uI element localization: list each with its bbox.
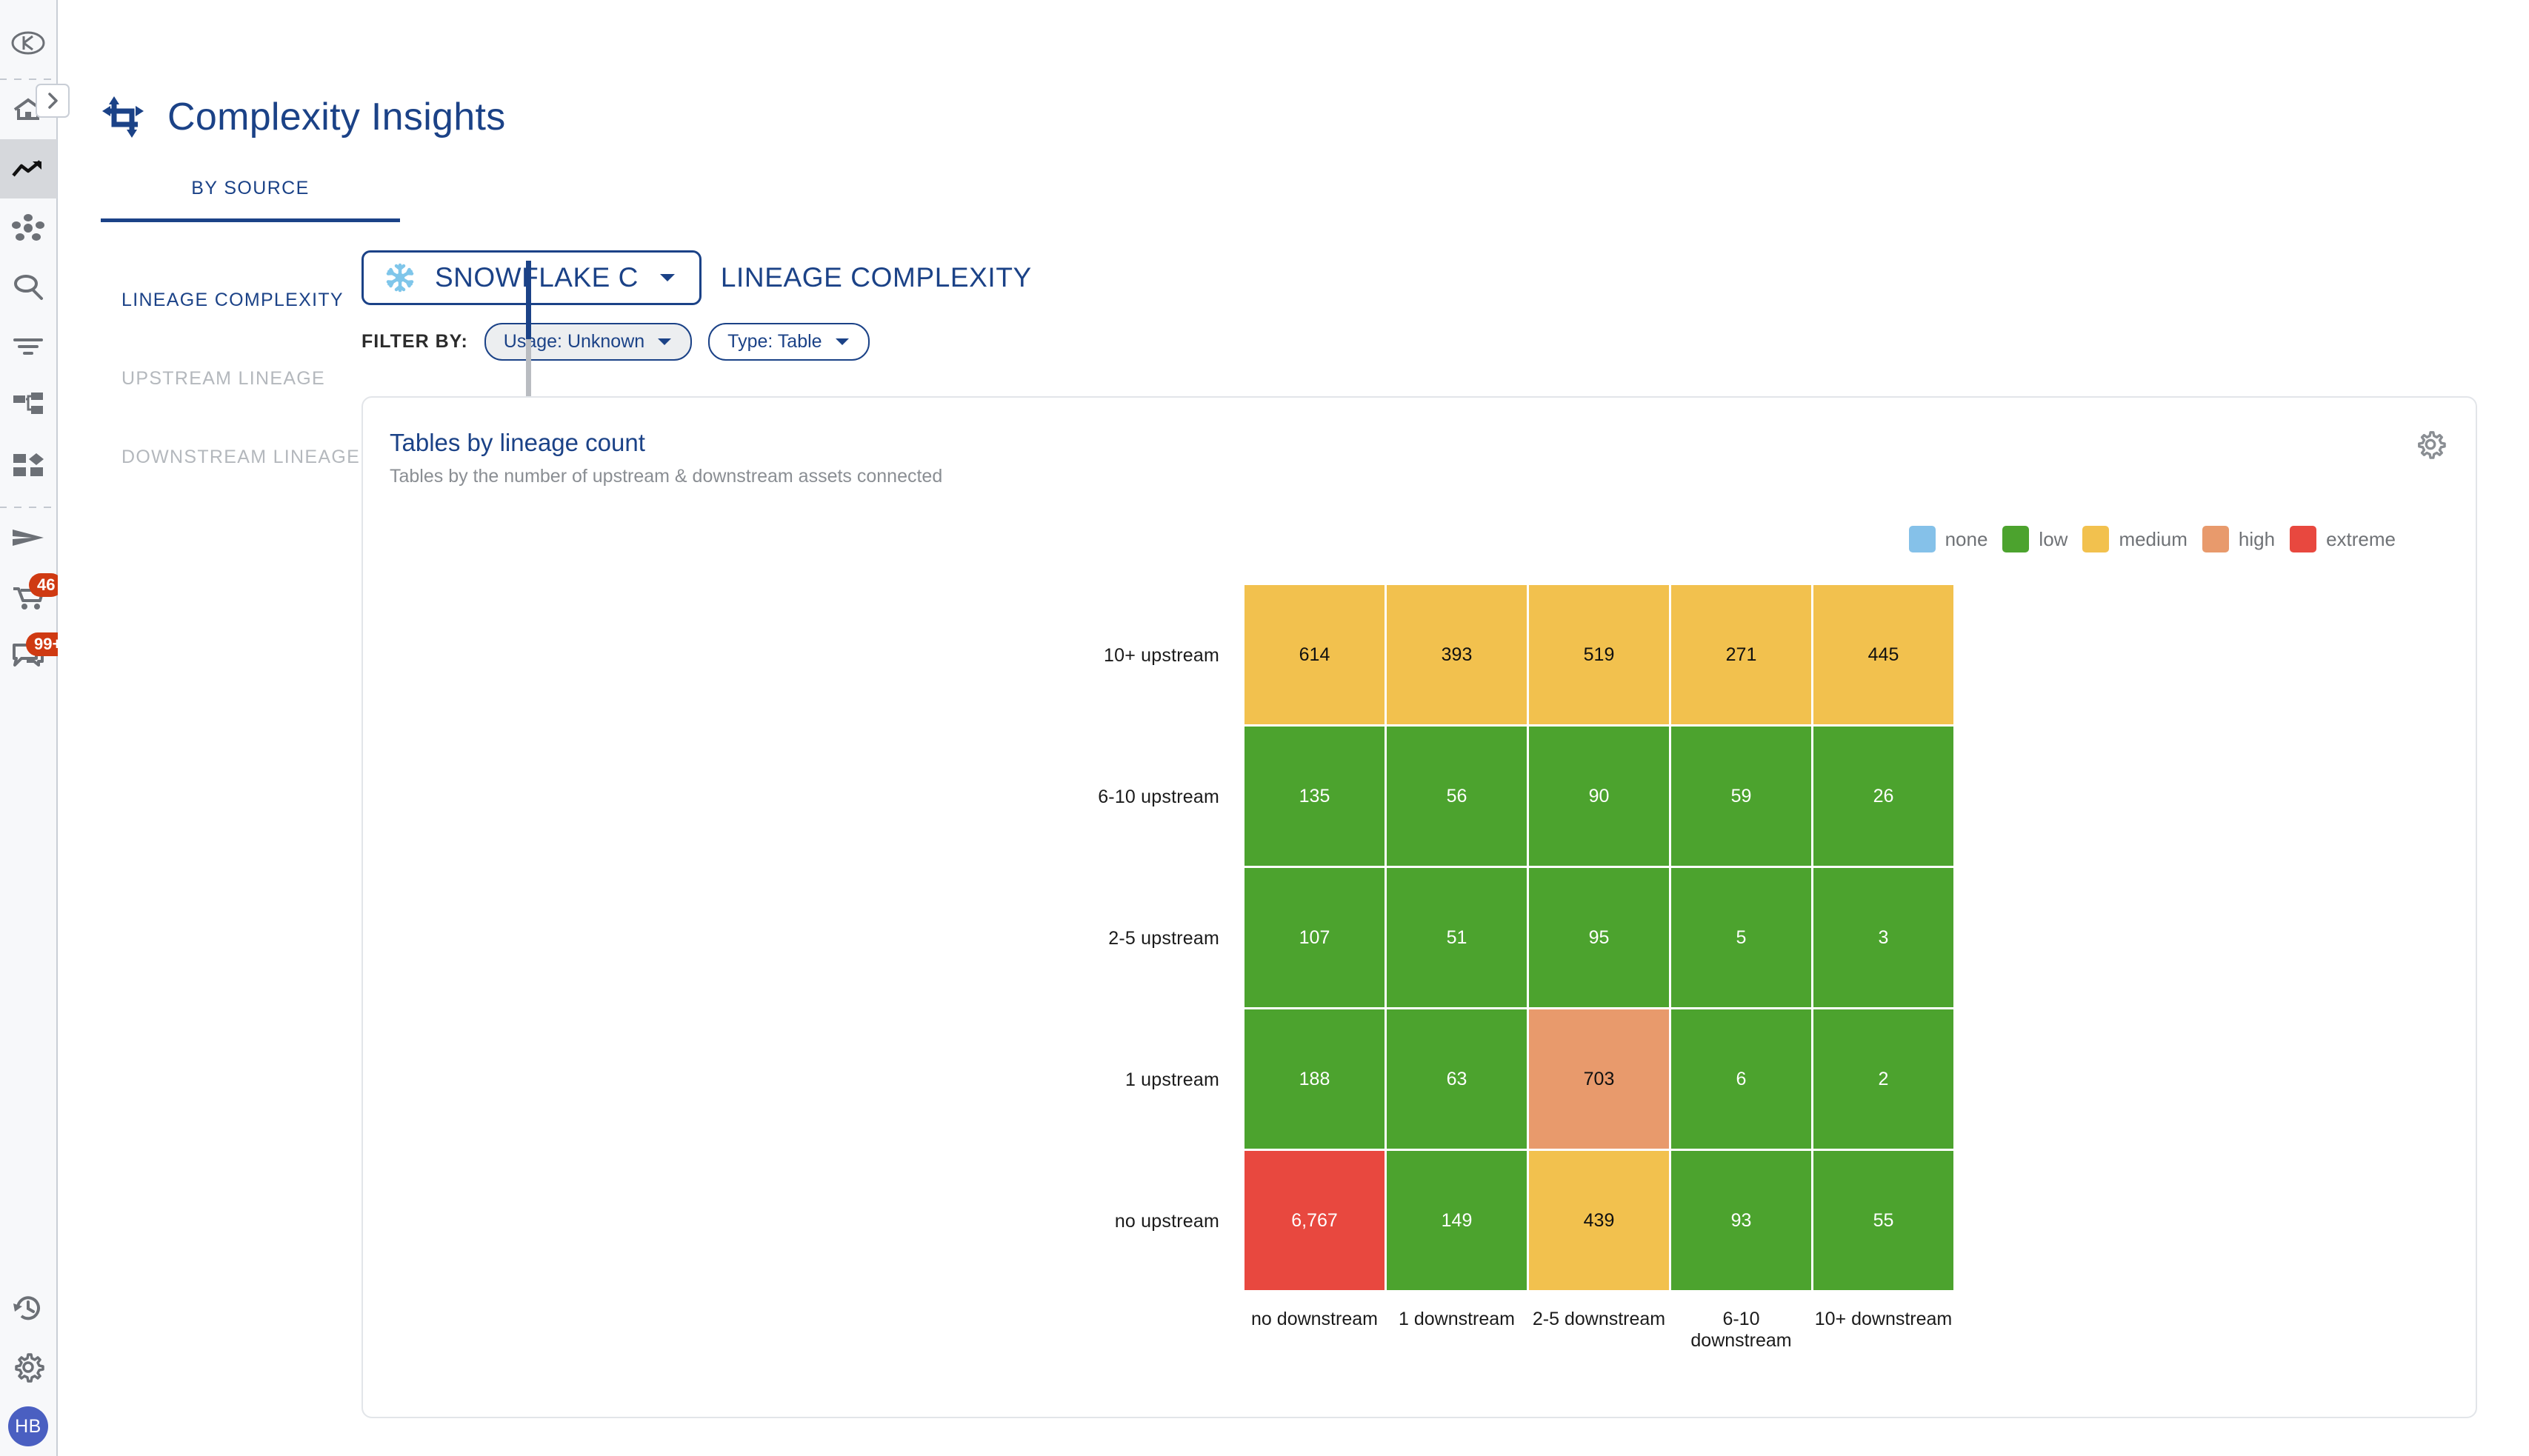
chevron-down-icon: [658, 271, 677, 284]
gear-icon: [12, 1351, 44, 1383]
sidebar-item-lineage-complexity[interactable]: LINEAGE COMPLEXITY: [101, 261, 361, 339]
filter-row: FILTER BY: Usage: Unknown Type: Table: [361, 323, 2529, 361]
chart-legend: none low medium high: [363, 526, 2476, 552]
sidebar-item-cart[interactable]: 46: [0, 567, 57, 627]
heatmap-row: 1886370362: [1244, 1009, 1953, 1149]
card-settings-button[interactable]: [2415, 429, 2446, 464]
page-header: Complexity Insights: [58, 0, 2529, 139]
sidebar-item-insights[interactable]: [0, 139, 57, 198]
heatmap-grid: 10+ upstream 6-10 upstream 2-5 upstream …: [363, 585, 2476, 1292]
avatar: HB: [8, 1406, 48, 1446]
heatmap-row: 6,7671494399355: [1244, 1151, 1953, 1290]
body-row: LINEAGE COMPLEXITY UPSTREAM LINEAGE DOWN…: [58, 222, 2529, 1418]
rail-nav-footer: HB: [0, 1278, 57, 1456]
tab-by-source[interactable]: BY SOURCE: [101, 178, 400, 222]
heatmap-cell[interactable]: 56: [1387, 727, 1527, 866]
legend-label-extreme: extreme: [2326, 528, 2396, 551]
rail-nav-primary: [0, 80, 57, 495]
card-title: Tables by lineage count: [390, 429, 2476, 457]
heatmap: 10+ upstream 6-10 upstream 2-5 upstream …: [363, 585, 2476, 1352]
k-logo-icon: [11, 26, 45, 60]
legend-item-medium: medium: [2082, 526, 2187, 552]
left-rail: 46 99+: [0, 0, 58, 1456]
heatmap-cell[interactable]: 6: [1671, 1009, 1811, 1149]
sub-navigation: LINEAGE COMPLEXITY UPSTREAM LINEAGE DOWN…: [58, 222, 361, 1418]
rail-nav-secondary: 46 99+: [0, 508, 57, 686]
sidebar-item-hierarchy[interactable]: [0, 376, 57, 435]
heatmap-cell[interactable]: 63: [1387, 1009, 1527, 1149]
column-label: 2-5 downstream: [1529, 1309, 1669, 1352]
catalog-grid-icon: [12, 452, 44, 478]
heatmap-cell[interactable]: 5: [1671, 868, 1811, 1007]
sidebar-item-downstream-lineage[interactable]: DOWNSTREAM LINEAGE: [101, 418, 361, 496]
filter-chip-type-label: Type: Table: [727, 331, 822, 353]
subnav-active-indicator: [526, 261, 531, 339]
heatmap-cell[interactable]: 393: [1387, 585, 1527, 724]
heatmap-cell[interactable]: 95: [1529, 868, 1669, 1007]
gear-icon: [2415, 429, 2446, 460]
row-label: 10+ upstream: [363, 585, 1244, 727]
filter-chip-type[interactable]: Type: Table: [708, 323, 869, 361]
heatmap-column-labels: no downstream 1 downstream 2-5 downstrea…: [1244, 1309, 2476, 1352]
heatmap-cell[interactable]: 93: [1671, 1151, 1811, 1290]
heatmap-cell[interactable]: 703: [1529, 1009, 1669, 1149]
app-logo[interactable]: [0, 19, 57, 67]
legend-label-medium: medium: [2119, 528, 2187, 551]
chart-card: Tables by lineage count Tables by the nu…: [361, 396, 2477, 1418]
filter-chip-usage[interactable]: Usage: Unknown: [484, 323, 692, 361]
legend-swatch-medium: [2082, 526, 2109, 552]
page-title: Complexity Insights: [167, 95, 506, 139]
filter-by-label: FILTER BY:: [361, 331, 468, 353]
chevron-right-icon: [43, 91, 62, 110]
row-label: 1 upstream: [363, 1009, 1244, 1151]
row-label: 6-10 upstream: [363, 727, 1244, 868]
tab-bar: BY SOURCE: [58, 178, 2529, 222]
heatmap-cell[interactable]: 59: [1671, 727, 1811, 866]
heatmap-cell[interactable]: 6,767: [1244, 1151, 1385, 1290]
heatmap-cell[interactable]: 445: [1813, 585, 1953, 724]
column-label: 6-10 downstream: [1671, 1309, 1811, 1352]
row-label: 2-5 upstream: [363, 868, 1244, 1009]
heatmap-cell[interactable]: 2: [1813, 1009, 1953, 1149]
legend-item-extreme: extreme: [2290, 526, 2396, 552]
heatmap-cell[interactable]: 614: [1244, 585, 1385, 724]
search-icon: [12, 271, 44, 304]
legend-label-low: low: [2039, 528, 2067, 551]
source-select-label: SNOWFLAKE C: [435, 262, 639, 293]
heatmap-cell[interactable]: 55: [1813, 1151, 1953, 1290]
sidebar-item-catalog[interactable]: [0, 435, 57, 495]
heatmap-matrix: 6143935192714451355690592610751955318863…: [1244, 585, 1953, 1292]
heatmap-cell[interactable]: 107: [1244, 868, 1385, 1007]
sidebar-item-settings[interactable]: [0, 1338, 57, 1397]
column-label: 1 downstream: [1387, 1309, 1527, 1352]
network-graph-icon: [12, 212, 44, 244]
heatmap-row-labels: 10+ upstream 6-10 upstream 2-5 upstream …: [363, 585, 1244, 1292]
history-icon: [12, 1292, 44, 1324]
legend-swatch-extreme: [2290, 526, 2316, 552]
send-icon: [11, 527, 45, 549]
app-root: 46 99+: [0, 0, 2529, 1456]
sidebar-item-search[interactable]: [0, 258, 57, 317]
heatmap-row: 13556905926: [1244, 727, 1953, 866]
legend-item-none: none: [1909, 526, 1988, 552]
main-content: Complexity Insights BY SOURCE LINEAGE CO…: [58, 0, 2529, 1456]
snowflake-icon: [384, 262, 416, 293]
heatmap-cell[interactable]: 3: [1813, 868, 1953, 1007]
heatmap-cell[interactable]: 149: [1387, 1151, 1527, 1290]
transform-resize-icon: [101, 95, 145, 139]
heatmap-row: 107519553: [1244, 868, 1953, 1007]
sidebar-item-lineage-graph[interactable]: [0, 198, 57, 258]
source-select[interactable]: SNOWFLAKE C: [361, 250, 702, 305]
heatmap-cell[interactable]: 90: [1529, 727, 1669, 866]
legend-swatch-high: [2202, 526, 2229, 552]
section-title: LINEAGE COMPLEXITY: [721, 262, 1032, 293]
chevron-down-icon: [834, 336, 850, 347]
sidebar-item-send[interactable]: [0, 508, 57, 567]
legend-item-high: high: [2202, 526, 2275, 552]
trending-up-icon: [12, 158, 44, 180]
sidebar-item-filters[interactable]: [0, 317, 57, 376]
column-label: no downstream: [1244, 1309, 1385, 1352]
heatmap-cell[interactable]: 26: [1813, 727, 1953, 866]
legend-swatch-low: [2002, 526, 2029, 552]
heatmap-cell[interactable]: 439: [1529, 1151, 1669, 1290]
content-column: SNOWFLAKE C LINEAGE COMPLEXITY FILTER BY…: [361, 222, 2529, 1418]
card-header: Tables by lineage count Tables by the nu…: [363, 398, 2476, 487]
sidebar-item-history[interactable]: [0, 1278, 57, 1338]
legend-label-none: none: [1945, 528, 1988, 551]
card-subtitle: Tables by the number of upstream & downs…: [390, 466, 2476, 487]
filter-icon: [12, 335, 44, 358]
heatmap-row: 614393519271445: [1244, 585, 1953, 724]
legend-swatch-none: [1909, 526, 1936, 552]
heatmap-cell[interactable]: 188: [1244, 1009, 1385, 1149]
expand-sidebar-button[interactable]: [36, 84, 70, 118]
column-label: 10+ downstream: [1813, 1309, 1953, 1352]
filter-chip-usage-label: Usage: Unknown: [504, 331, 644, 353]
legend-label-high: high: [2239, 528, 2275, 551]
source-selector-row: SNOWFLAKE C LINEAGE COMPLEXITY: [361, 250, 2529, 305]
heatmap-cell[interactable]: 51: [1387, 868, 1527, 1007]
row-label: no upstream: [363, 1151, 1244, 1292]
legend-item-low: low: [2002, 526, 2067, 552]
sidebar-item-comments[interactable]: 99+: [0, 627, 57, 686]
user-avatar[interactable]: HB: [0, 1397, 57, 1456]
chevron-down-icon: [656, 336, 673, 347]
sidebar-item-upstream-lineage[interactable]: UPSTREAM LINEAGE: [101, 339, 361, 418]
heatmap-cell[interactable]: 519: [1529, 585, 1669, 724]
heatmap-cell[interactable]: 135: [1244, 727, 1385, 866]
hierarchy-icon: [12, 391, 44, 421]
heatmap-cell[interactable]: 271: [1671, 585, 1811, 724]
